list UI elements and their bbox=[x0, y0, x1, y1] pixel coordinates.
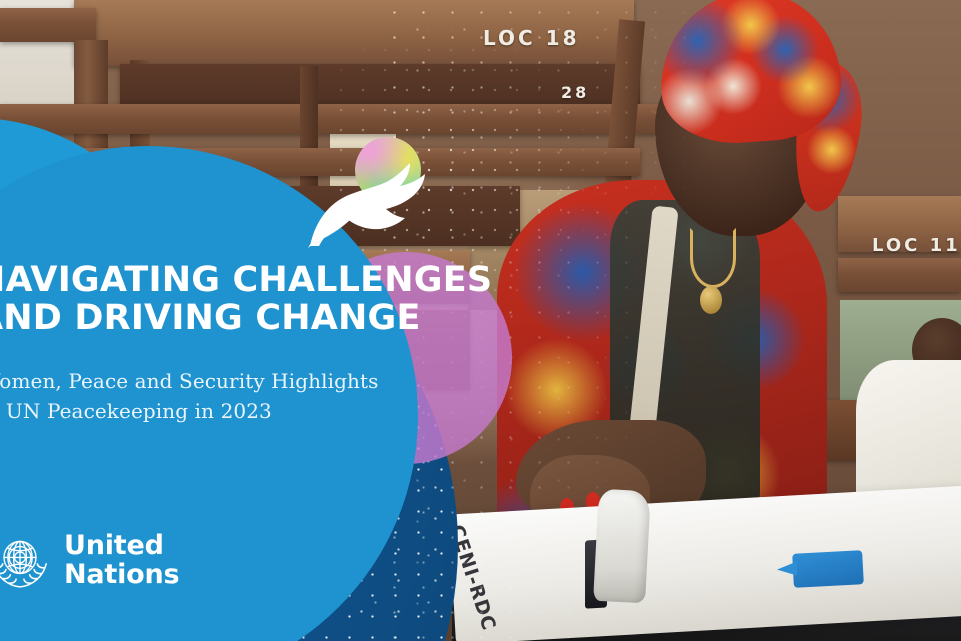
poster-title-line-2: AND DRIVING CHANGE bbox=[0, 300, 446, 338]
poster-subtitle-line-2: in UN Peacekeeping in 2023 bbox=[0, 396, 450, 426]
un-emblem-icon bbox=[0, 528, 52, 592]
bench-plank bbox=[0, 8, 96, 42]
poster-subtitle: Women, Peace and Security Highlights in … bbox=[0, 366, 450, 427]
poster-title: NAVIGATING CHALLENGES AND DRIVING CHANGE bbox=[0, 262, 446, 338]
un-wordmark-line-1: United bbox=[64, 531, 179, 560]
poster-title-line-1: NAVIGATING CHALLENGES bbox=[0, 262, 446, 300]
un-wordmark: United Nations bbox=[64, 531, 179, 589]
poster-canvas: LOC 18 28 LOC 11 bbox=[0, 0, 961, 641]
dove-icon bbox=[306, 160, 434, 250]
un-wordmark-line-2: Nations bbox=[64, 560, 179, 589]
poster-subtitle-line-1: Women, Peace and Security Highlights bbox=[0, 366, 450, 396]
un-logo-lockup: United Nations bbox=[0, 528, 179, 592]
